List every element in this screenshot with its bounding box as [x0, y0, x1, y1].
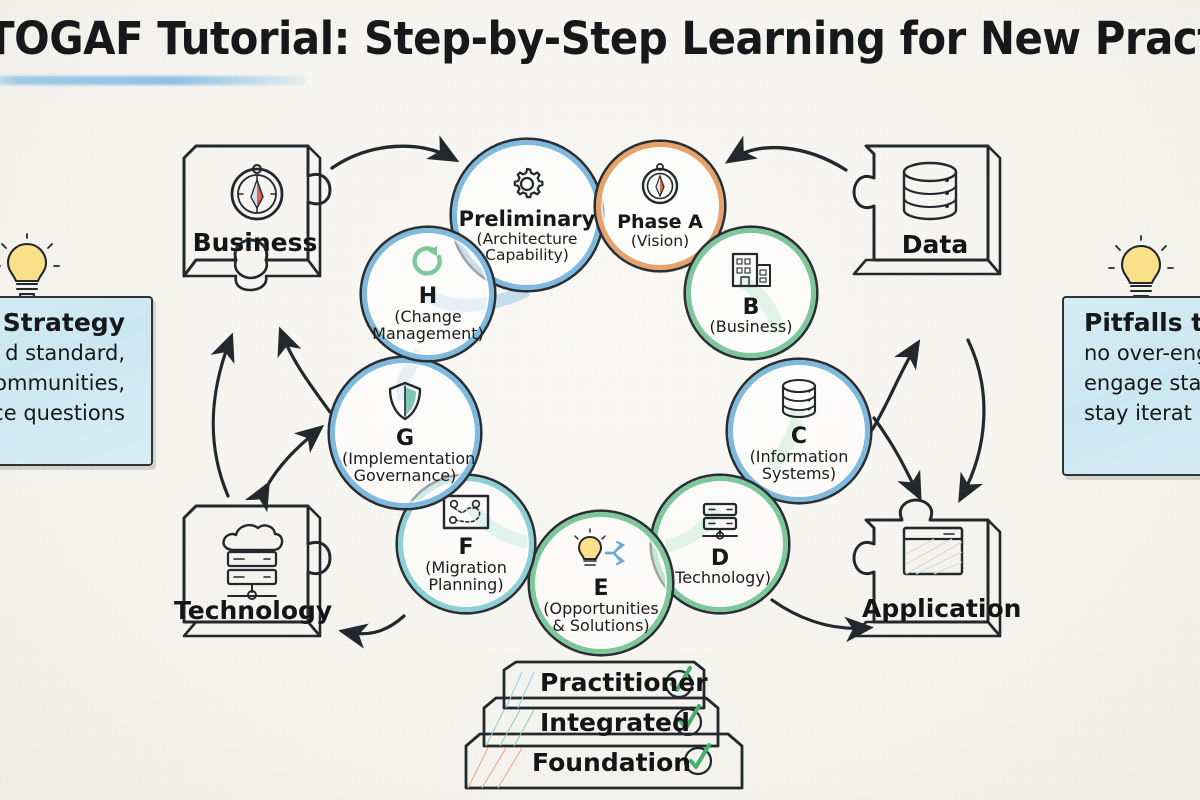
certification-steps[interactable]: Practitioner Integrated Foundation [466, 660, 746, 792]
adm-phase-sub-h: (Change Management) [369, 309, 487, 343]
building-icon [729, 250, 773, 294]
adm-phase-h[interactable]: H (Change Management) [362, 228, 494, 360]
adm-phase-e[interactable]: E (Opportunities & Solutions) [530, 512, 672, 654]
adm-phase-sub-b: (Business) [709, 319, 792, 336]
adm-phase-name-a: Phase A [617, 213, 703, 233]
adm-phase-b[interactable]: B (Business) [686, 228, 816, 358]
adm-phase-name-c: C [791, 426, 807, 449]
adm-phase-sub-a: (Vision) [631, 233, 689, 249]
adm-phase-c[interactable]: C (Information Systems) [728, 360, 870, 502]
adm-phase-sub-d: (Technology) [669, 570, 771, 587]
adm-phase-name-h: H [419, 286, 437, 309]
adm-phase-name-e: E [593, 578, 608, 601]
adm-phase-sub-e: (Opportunities & Solutions) [542, 601, 660, 635]
refresh-cycle-icon [410, 245, 446, 283]
adm-phase-name-preliminary: Preliminary [459, 209, 596, 231]
lightbulb-arrow-icon [574, 531, 628, 575]
gear-icon [509, 166, 545, 206]
database-icon [780, 379, 818, 423]
whiteboard-canvas: TOGAF Tutorial: Step-by-Step Learning fo… [0, 0, 1200, 800]
adm-phase-name-g: G [396, 428, 414, 451]
adm-phase-sub-f: (Migration Planning) [411, 560, 521, 594]
adm-phase-sub-c: (Information Systems) [743, 449, 855, 483]
adm-phase-g[interactable]: G (Implementation Governance) [330, 358, 480, 508]
step-label-integrated: Integrated [540, 708, 690, 737]
compass-icon [640, 162, 680, 210]
shield-icon [388, 381, 422, 425]
step-label-practitioner: Practitioner [540, 668, 708, 697]
server-icon [699, 501, 741, 545]
adm-phase-d[interactable]: D (Technology) [652, 476, 788, 612]
route-map-icon [442, 494, 490, 534]
adm-phase-name-f: F [458, 537, 473, 560]
adm-phase-name-d: D [711, 548, 729, 571]
adm-phase-sub-preliminary: (Architecture Capability) [468, 231, 586, 264]
adm-phase-sub-g: (Implementation Governance) [342, 451, 468, 485]
adm-phase-name-b: B [743, 297, 760, 320]
step-label-foundation: Foundation [532, 748, 691, 777]
